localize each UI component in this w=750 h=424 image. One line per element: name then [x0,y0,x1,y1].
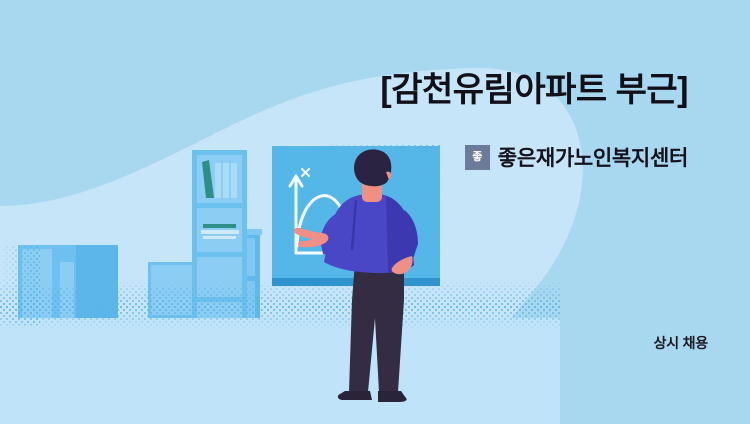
company-badge-icon: 좋 [465,145,490,170]
left-shoe [338,391,372,400]
left-dither-texture [0,245,40,325]
company-name[interactable]: 좋은재가노인복지센터 [498,142,688,172]
floor [0,318,560,424]
books-upright [202,160,237,198]
status-badge: 상시 채용 [654,333,708,353]
floor-dither-texture [0,280,560,330]
job-posting-banner: [감천유림아파트 부근] 좋 좋은재가노인복지센터 상시 채용 [0,0,750,424]
office-illustration [0,0,750,424]
books-stacked [201,224,239,239]
hair [354,149,391,186]
company-row: 좋 좋은재가노인복지센터 [465,142,688,172]
page-title: [감천유림아파트 부근] [380,72,688,109]
